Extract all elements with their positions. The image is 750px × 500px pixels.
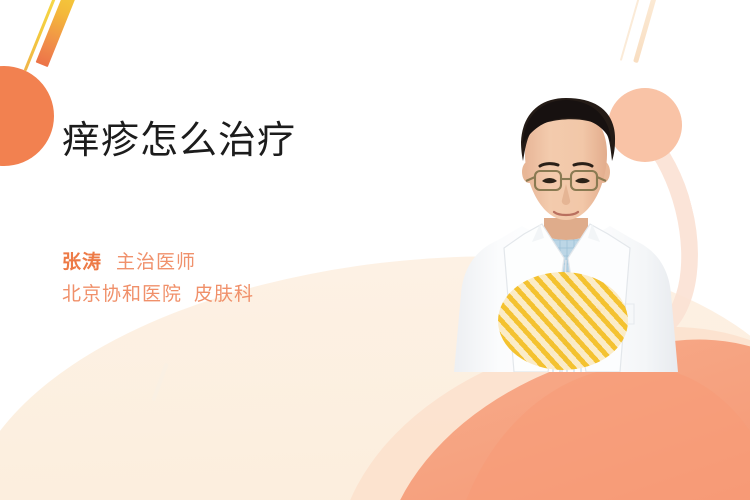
- diagonal-stripe-pale-thin-icon: [620, 0, 642, 61]
- striped-disc-decoration: [498, 272, 628, 370]
- doctor-affiliation-line: 北京协和医院皮肤科: [62, 279, 254, 311]
- doctor-name-line: 张涛主治医师: [62, 247, 254, 279]
- diagonal-stripe-thick-icon: [36, 0, 82, 67]
- department-name: 皮肤科: [194, 284, 254, 305]
- text-block: 痒疹怎么治疗: [62, 118, 422, 164]
- wave-shape-salmon-overlay: [448, 360, 750, 500]
- diagonal-stripe-thin-icon: [24, 0, 60, 71]
- hospital-name: 北京协和医院: [62, 284, 182, 305]
- doctor-title: 主治医师: [116, 252, 196, 273]
- page-title: 痒疹怎么治疗: [62, 118, 422, 164]
- doctor-name: 张涛: [62, 252, 102, 273]
- diagonal-stripe-pale-thick-icon: [633, 0, 660, 63]
- diagonal-stripe-cream-icon: [151, 363, 168, 402]
- orange-circle-decoration: [0, 66, 54, 166]
- doctor-intro-card: 痒疹怎么治疗 张涛主治医师 北京协和医院皮肤科: [0, 0, 750, 500]
- doctor-credits: 张涛主治医师 北京协和医院皮肤科: [62, 247, 254, 311]
- portrait-container: [440, 72, 692, 372]
